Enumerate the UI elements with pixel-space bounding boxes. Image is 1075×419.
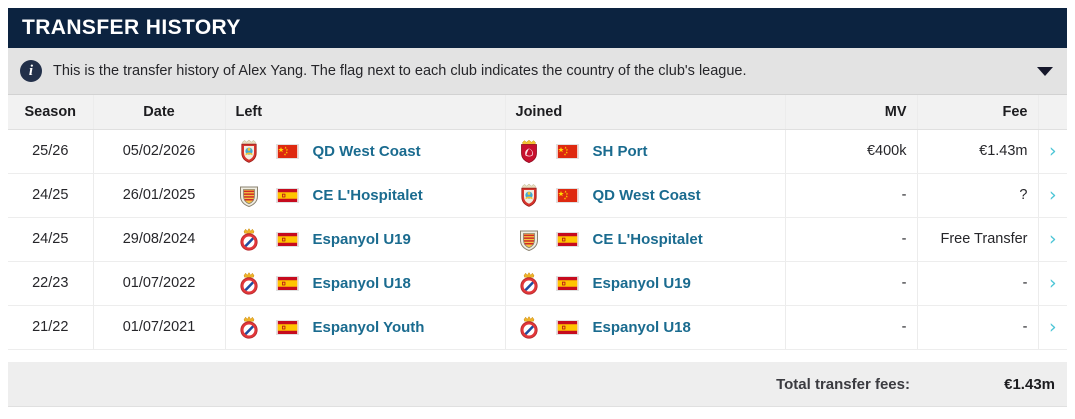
page-title: Transfer History (22, 16, 241, 40)
qd-west-coast-crest (516, 182, 542, 208)
china-flag (556, 188, 579, 203)
cell-date: 01/07/2021 (93, 305, 225, 349)
transfer-history-widget: Transfer History i This is the transfer … (0, 0, 1075, 419)
china-flag (556, 144, 579, 159)
espanyol-crest (516, 314, 542, 340)
cell-detail-link[interactable]: › (1038, 173, 1067, 217)
column-header-mv[interactable]: MV (785, 95, 917, 129)
cell-left-club: CE L'Hospitalet (225, 173, 505, 217)
cell-detail-link[interactable]: › (1038, 261, 1067, 305)
info-bar: i This is the transfer history of Alex Y… (8, 48, 1067, 95)
cell-season: 21/22 (8, 305, 93, 349)
table-row[interactable]: 21/2201/07/2021Espanyol YouthEspanyol U1… (8, 305, 1067, 349)
cell-date: 29/08/2024 (93, 217, 225, 261)
cell-joined-club: Espanyol U19 (505, 261, 785, 305)
espanyol-crest (236, 314, 262, 340)
chevron-right-icon[interactable]: › (1049, 186, 1057, 205)
cell-joined-club: SH Port (505, 129, 785, 173)
table-row[interactable]: 22/2301/07/2022Espanyol U18Espanyol U19-… (8, 261, 1067, 305)
sh-port-crest (516, 138, 542, 164)
club-link-left[interactable]: Espanyol U19 (313, 231, 411, 248)
espanyol-crest (236, 226, 262, 252)
club-cell-joined: Espanyol U19 (516, 270, 775, 296)
column-header-detail (1038, 95, 1067, 129)
cell-fee: - (917, 261, 1038, 305)
cell-left-club: Espanyol U19 (225, 217, 505, 261)
club-cell-left: QD West Coast (236, 138, 495, 164)
qd-west-coast-crest (236, 138, 262, 164)
club-cell-joined: SH Port (516, 138, 775, 164)
spain-flag (556, 232, 579, 247)
club-link-joined[interactable]: Espanyol U19 (593, 275, 691, 292)
cell-detail-link[interactable]: › (1038, 129, 1067, 173)
cell-fee: - (917, 305, 1038, 349)
column-header-left[interactable]: Left (225, 95, 505, 129)
cell-joined-club: QD West Coast (505, 173, 785, 217)
table-row[interactable]: 24/2529/08/2024Espanyol U19CE L'Hospital… (8, 217, 1067, 261)
info-icon: i (20, 60, 42, 82)
club-link-left[interactable]: QD West Coast (313, 143, 421, 160)
transfer-table-container: Season Date Left Joined MV Fee 25/2605/0… (8, 95, 1067, 350)
cell-market-value: - (785, 173, 917, 217)
ce-lhospitalet-crest (516, 226, 542, 252)
club-cell-left: Espanyol Youth (236, 314, 495, 340)
club-link-joined[interactable]: SH Port (593, 143, 648, 160)
club-link-left[interactable]: Espanyol U18 (313, 275, 411, 292)
chevron-right-icon[interactable]: › (1049, 318, 1057, 337)
cell-left-club: Espanyol Youth (225, 305, 505, 349)
espanyol-crest (236, 270, 262, 296)
chevron-right-icon[interactable]: › (1049, 230, 1057, 249)
cell-market-value: - (785, 305, 917, 349)
club-link-joined[interactable]: Espanyol U18 (593, 319, 691, 336)
spain-flag (556, 276, 579, 291)
cell-date: 01/07/2022 (93, 261, 225, 305)
cell-date: 26/01/2025 (93, 173, 225, 217)
table-row[interactable]: 25/2605/02/2026QD West CoastSH Port€400k… (8, 129, 1067, 173)
cell-season: 24/25 (8, 173, 93, 217)
info-text: This is the transfer history of Alex Yan… (53, 63, 1027, 79)
column-header-fee[interactable]: Fee (917, 95, 1038, 129)
spain-flag (276, 320, 299, 335)
espanyol-crest (516, 270, 542, 296)
club-link-left[interactable]: Espanyol Youth (313, 319, 425, 336)
spain-flag (276, 276, 299, 291)
cell-season: 24/25 (8, 217, 93, 261)
cell-joined-club: CE L'Hospitalet (505, 217, 785, 261)
column-header-joined[interactable]: Joined (505, 95, 785, 129)
widget-header: Transfer History (8, 8, 1067, 48)
column-header-season[interactable]: Season (8, 95, 93, 129)
club-cell-left: Espanyol U19 (236, 226, 495, 252)
cell-fee: ? (917, 173, 1038, 217)
spain-flag (556, 320, 579, 335)
club-cell-joined: QD West Coast (516, 182, 775, 208)
table-header-row: Season Date Left Joined MV Fee (8, 95, 1067, 129)
club-link-joined[interactable]: QD West Coast (593, 187, 701, 204)
table-row[interactable]: 24/2526/01/2025CE L'HospitaletQD West Co… (8, 173, 1067, 217)
cell-market-value: - (785, 217, 917, 261)
club-cell-joined: CE L'Hospitalet (516, 226, 775, 252)
china-flag (276, 144, 299, 159)
spain-flag (276, 188, 299, 203)
cell-fee: €1.43m (917, 129, 1038, 173)
club-cell-joined: Espanyol U18 (516, 314, 775, 340)
cell-fee: Free Transfer (917, 217, 1038, 261)
ce-lhospitalet-crest (236, 182, 262, 208)
cell-left-club: QD West Coast (225, 129, 505, 173)
transfer-table: Season Date Left Joined MV Fee 25/2605/0… (8, 95, 1067, 350)
club-link-left[interactable]: CE L'Hospitalet (313, 187, 423, 204)
cell-market-value: €400k (785, 129, 917, 173)
cell-detail-link[interactable]: › (1038, 217, 1067, 261)
chevron-right-icon[interactable]: › (1049, 142, 1057, 161)
spain-flag (276, 232, 299, 247)
total-transfer-fees-label: Total transfer fees: (776, 376, 910, 393)
total-transfer-fees-value: €1.43m (946, 376, 1067, 393)
cell-season: 22/23 (8, 261, 93, 305)
chevron-down-icon[interactable] (1037, 67, 1053, 76)
cell-left-club: Espanyol U18 (225, 261, 505, 305)
table-header: Season Date Left Joined MV Fee (8, 95, 1067, 129)
club-cell-left: Espanyol U18 (236, 270, 495, 296)
club-link-joined[interactable]: CE L'Hospitalet (593, 231, 703, 248)
cell-season: 25/26 (8, 129, 93, 173)
column-header-date[interactable]: Date (93, 95, 225, 129)
table-body: 25/2605/02/2026QD West CoastSH Port€400k… (8, 129, 1067, 349)
club-cell-left: CE L'Hospitalet (236, 182, 495, 208)
cell-market-value: - (785, 261, 917, 305)
chevron-right-icon[interactable]: › (1049, 274, 1057, 293)
cell-date: 05/02/2026 (93, 129, 225, 173)
table-footer: Total transfer fees: €1.43m (8, 362, 1067, 407)
cell-detail-link[interactable]: › (1038, 305, 1067, 349)
cell-joined-club: Espanyol U18 (505, 305, 785, 349)
